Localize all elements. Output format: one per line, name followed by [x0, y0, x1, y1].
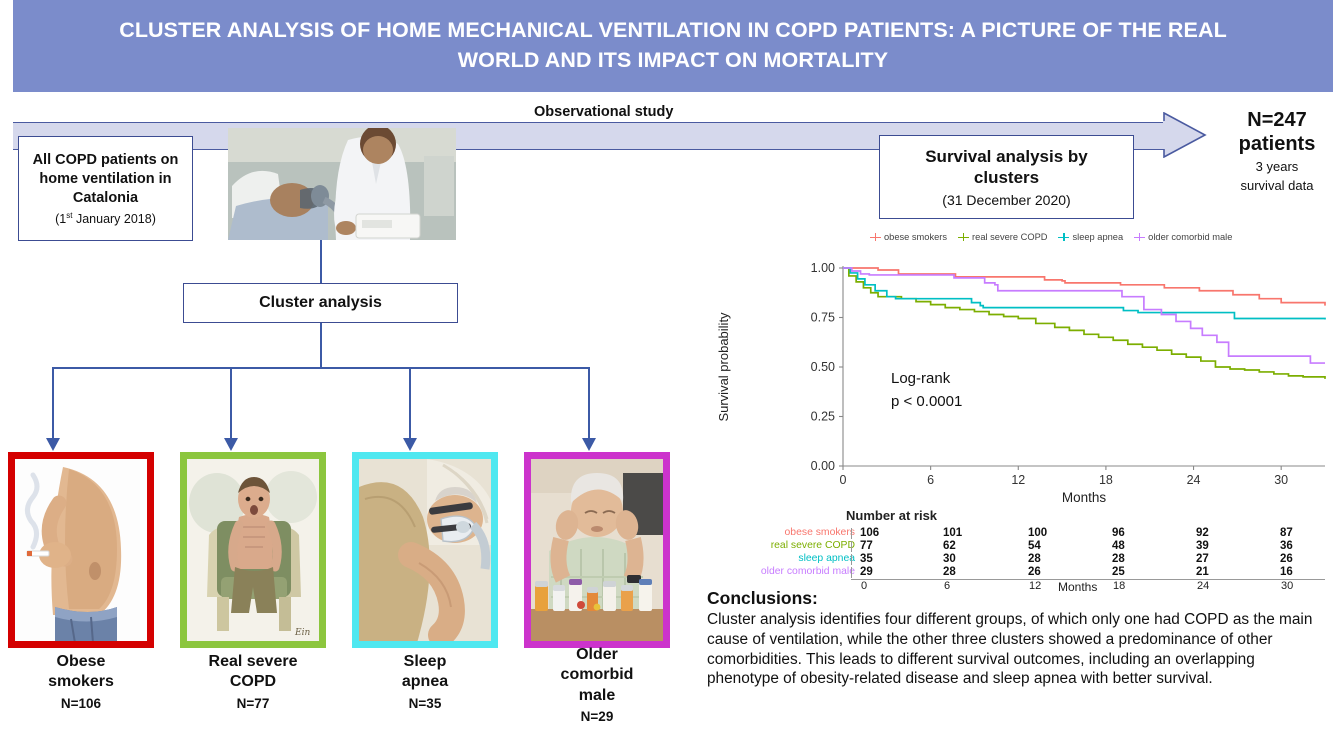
- y-tick-label: 0.50: [811, 360, 835, 374]
- risk-row-tick: [851, 554, 852, 565]
- risk-row-label: older comorbid male: [761, 566, 855, 577]
- risk-table-row: real severe COPD776254483936: [700, 540, 1333, 553]
- risk-table-cell: 29: [860, 566, 873, 578]
- cluster-card-older-comorbid-male[interactable]: [524, 452, 670, 648]
- km-curve: [843, 268, 1325, 379]
- x-tick-label: 12: [1011, 473, 1025, 487]
- risk-table-cell: 28: [1028, 553, 1041, 565]
- cluster-caption-0: Obesesmokers N=106: [6, 652, 156, 711]
- risk-row-label: obese smokers: [785, 527, 855, 538]
- survival-box-line1: Survival analysis byclusters: [925, 146, 1088, 189]
- risk-table-row: obese smokers106101100969287: [700, 527, 1333, 540]
- svg-text:Ein: Ein: [294, 628, 310, 638]
- cluster-n-2: N=35: [350, 696, 500, 711]
- cluster-card-real-severe-copd[interactable]: Ein: [180, 452, 326, 648]
- x-axis-label: Months: [1062, 490, 1107, 505]
- connector-drop-1: [52, 367, 54, 440]
- connector-photo-to-cluster: [320, 240, 322, 283]
- risk-table-cell: 96: [1112, 527, 1125, 539]
- cluster-name-1: Real severeCOPD: [178, 652, 328, 693]
- source-box-date: (1st January 2018): [55, 211, 156, 226]
- risk-table-cell: 26: [1028, 566, 1041, 578]
- outcome-unit: patients: [1222, 132, 1332, 156]
- cluster-n-1: N=77: [178, 696, 328, 711]
- risk-table-cell: 28: [943, 566, 956, 578]
- risk-table-row: older comorbid male292826252116: [700, 566, 1333, 579]
- outcome-summary: N=247 patients 3 years survival data: [1222, 108, 1332, 195]
- cluster-caption-2: Sleepapnea N=35: [350, 652, 500, 711]
- obese-smoker-photo: [15, 459, 147, 641]
- risk-table-row: sleep apnea353028282726: [700, 553, 1333, 566]
- arrowhead-icon-2: [223, 436, 239, 452]
- page-title: CLUSTER ANALYSIS OF HOME MECHANICAL VENT…: [103, 16, 1243, 75]
- risk-table-cell: 92: [1196, 527, 1209, 539]
- y-axis-label: Survival probability: [716, 312, 731, 422]
- observational-study-label: Observational study: [534, 104, 673, 120]
- connector-drop-2: [230, 367, 232, 440]
- km-plot: 0.000.250.500.751.000612182430MonthsSurv…: [700, 228, 1333, 508]
- survival-analysis-box: Survival analysis byclusters (31 Decembe…: [879, 135, 1134, 219]
- source-cohort-box: All COPD patients onhome ventilation inC…: [18, 136, 193, 241]
- outcome-detail1: 3 years: [1222, 159, 1332, 176]
- connector-drop-4: [588, 367, 590, 440]
- outcome-n: N=247: [1222, 108, 1332, 132]
- risk-row-label: real severe COPD: [771, 540, 855, 551]
- risk-table-cell: 54: [1028, 540, 1041, 552]
- risk-table-cell: 101: [943, 527, 962, 539]
- risk-table-cell: 27: [1196, 553, 1209, 565]
- x-tick-label: 18: [1099, 473, 1113, 487]
- conclusions-body: Cluster analysis identifies four differe…: [707, 610, 1323, 689]
- risk-table-cell: 87: [1280, 527, 1293, 539]
- risk-table-cell: 36: [1280, 540, 1293, 552]
- survival-box-date: (31 December 2020): [942, 192, 1070, 208]
- title-banner: CLUSTER ANALYSIS OF HOME MECHANICAL VENT…: [13, 0, 1333, 92]
- cluster-name-0: Obesesmokers: [6, 652, 156, 693]
- severe-copd-illustration: Ein: [187, 459, 319, 641]
- cluster-n-0: N=106: [6, 696, 156, 711]
- risk-table-cell: 35: [860, 553, 873, 565]
- chart-annotation: Log-rank: [891, 370, 951, 387]
- x-tick-label: 24: [1187, 473, 1201, 487]
- risk-table-cell: 62: [943, 540, 956, 552]
- x-tick-label: 0: [840, 473, 847, 487]
- clinician-patient-photo: [228, 128, 456, 240]
- connector-drop-3: [409, 367, 411, 440]
- risk-table-cell: 16: [1280, 566, 1293, 578]
- older-comorbid-male-photo: [531, 459, 663, 641]
- risk-row-tick: [851, 541, 852, 552]
- risk-table-cell: 25: [1112, 566, 1125, 578]
- number-at-risk-table: Number at risk obese smokers106101100969…: [700, 508, 1333, 586]
- x-tick-label: 30: [1274, 473, 1288, 487]
- risk-table-cell: 48: [1112, 540, 1125, 552]
- risk-row-tick: [851, 528, 852, 539]
- connector-bus: [52, 367, 589, 369]
- cluster-analysis-box: Cluster analysis: [183, 283, 458, 323]
- cluster-caption-1: Real severeCOPD N=77: [178, 652, 328, 711]
- cluster-analysis-label: Cluster analysis: [259, 294, 382, 312]
- connector-cluster-stem: [320, 323, 322, 368]
- cluster-name-2: Sleepapnea: [350, 652, 500, 693]
- y-tick-label: 0.00: [811, 459, 835, 473]
- outcome-detail2: survival data: [1222, 178, 1332, 195]
- y-tick-label: 1.00: [811, 261, 835, 275]
- risk-table-cell: 100: [1028, 527, 1047, 539]
- risk-table-cell: 30: [943, 553, 956, 565]
- chart-annotation: p < 0.0001: [891, 393, 962, 410]
- cluster-card-obese-smokers[interactable]: [8, 452, 154, 648]
- source-box-line1: All COPD patients onhome ventilation inC…: [33, 151, 179, 208]
- arrowhead-icon-3: [402, 436, 418, 452]
- y-tick-label: 0.75: [811, 311, 835, 325]
- x-tick-label: 6: [927, 473, 934, 487]
- risk-table-cell: 21: [1196, 566, 1209, 578]
- risk-table-cell: 77: [860, 540, 873, 552]
- risk-table-cell: 106: [860, 527, 879, 539]
- cluster-n-3: N=29: [522, 709, 672, 724]
- conclusions-heading: Conclusions:: [707, 588, 1323, 609]
- sleep-apnea-cpap-photo: [359, 459, 491, 641]
- cluster-caption-3: Oldercomorbidmale N=29: [522, 645, 672, 724]
- risk-table-cell: 39: [1196, 540, 1209, 552]
- cluster-name-3: Oldercomorbidmale: [522, 645, 672, 706]
- risk-table-cell: 26: [1280, 553, 1293, 565]
- risk-table-cell: 28: [1112, 553, 1125, 565]
- y-tick-label: 0.25: [811, 410, 835, 424]
- conclusions-section: Conclusions: Cluster analysis identifies…: [707, 588, 1323, 689]
- arrowhead-icon-1: [45, 436, 61, 452]
- risk-row-tick: [851, 567, 852, 578]
- risk-table-title: Number at risk: [846, 508, 937, 523]
- arrowhead-icon-4: [581, 436, 597, 452]
- risk-row-label: sleep apnea: [798, 553, 855, 564]
- cluster-card-sleep-apnea[interactable]: [352, 452, 498, 648]
